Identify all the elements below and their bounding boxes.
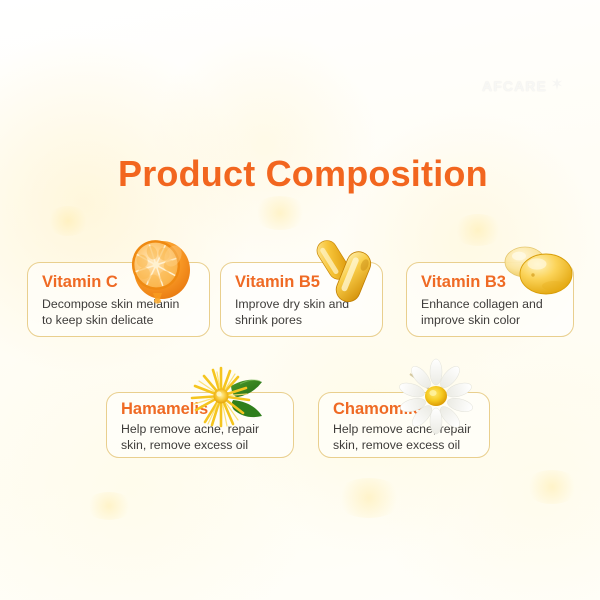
card-description-line-1: Improve dry skin and [235,297,370,313]
card-description-line-2: to keep skin delicate [42,313,197,329]
card-description: Enhance collagen and improve skin color [421,297,561,328]
card-title: Hamamelis [121,399,281,419]
watermark-label: AFCARE [482,78,547,94]
composition-card-vitamin-b5: Vitamin B5 Improve dry skin and shrink p… [220,262,383,337]
background-glow-3 [452,214,504,246]
card-description: Help remove acne, repair skin, remove ex… [121,422,281,453]
background-glow-2 [252,196,308,230]
product-composition-page: AFCARE Product Composition Vitamin C Dec… [0,0,600,600]
card-description-line-2: improve skin color [421,313,561,329]
page-title: Product Composition [118,153,488,195]
composition-card-hamamelis: Hamamelis Help remove acne, repair skin,… [106,392,294,458]
background-glow-6 [84,492,134,520]
background-glow-4 [334,478,404,518]
card-title: Vitamin C [42,272,197,292]
card-description: Decompose skin melanin to keep skin deli… [42,297,197,328]
card-description-line-1: Decompose skin melanin [42,297,197,313]
card-description-line-2: skin, remove excess oil [333,438,477,454]
card-description: Help remove acne, repair skin, remove ex… [333,422,477,453]
composition-card-vitamin-c: Vitamin C Decompose skin melanin to keep… [27,262,210,337]
card-description-line-2: shrink pores [235,313,370,329]
leaf-icon [550,77,564,91]
card-description-line-1: Help remove acne, repair [121,422,281,438]
card-title: Vitamin B3 [421,272,561,292]
background-glow-5 [524,470,580,504]
afcare-watermark: AFCARE [482,78,564,94]
card-description-line-1: Help remove acne, repair [333,422,477,438]
card-title: Vitamin B5 [235,272,370,292]
background-glow-1 [46,206,90,236]
card-description-line-1: Enhance collagen and [421,297,561,313]
composition-card-vitamin-b3: Vitamin B3 Enhance collagen and improve … [406,262,574,337]
card-description: Improve dry skin and shrink pores [235,297,370,328]
card-description-line-2: skin, remove excess oil [121,438,281,454]
card-title: Chamomile [333,399,477,419]
composition-card-chamomile: Chamomile Help remove acne, repair skin,… [318,392,490,458]
